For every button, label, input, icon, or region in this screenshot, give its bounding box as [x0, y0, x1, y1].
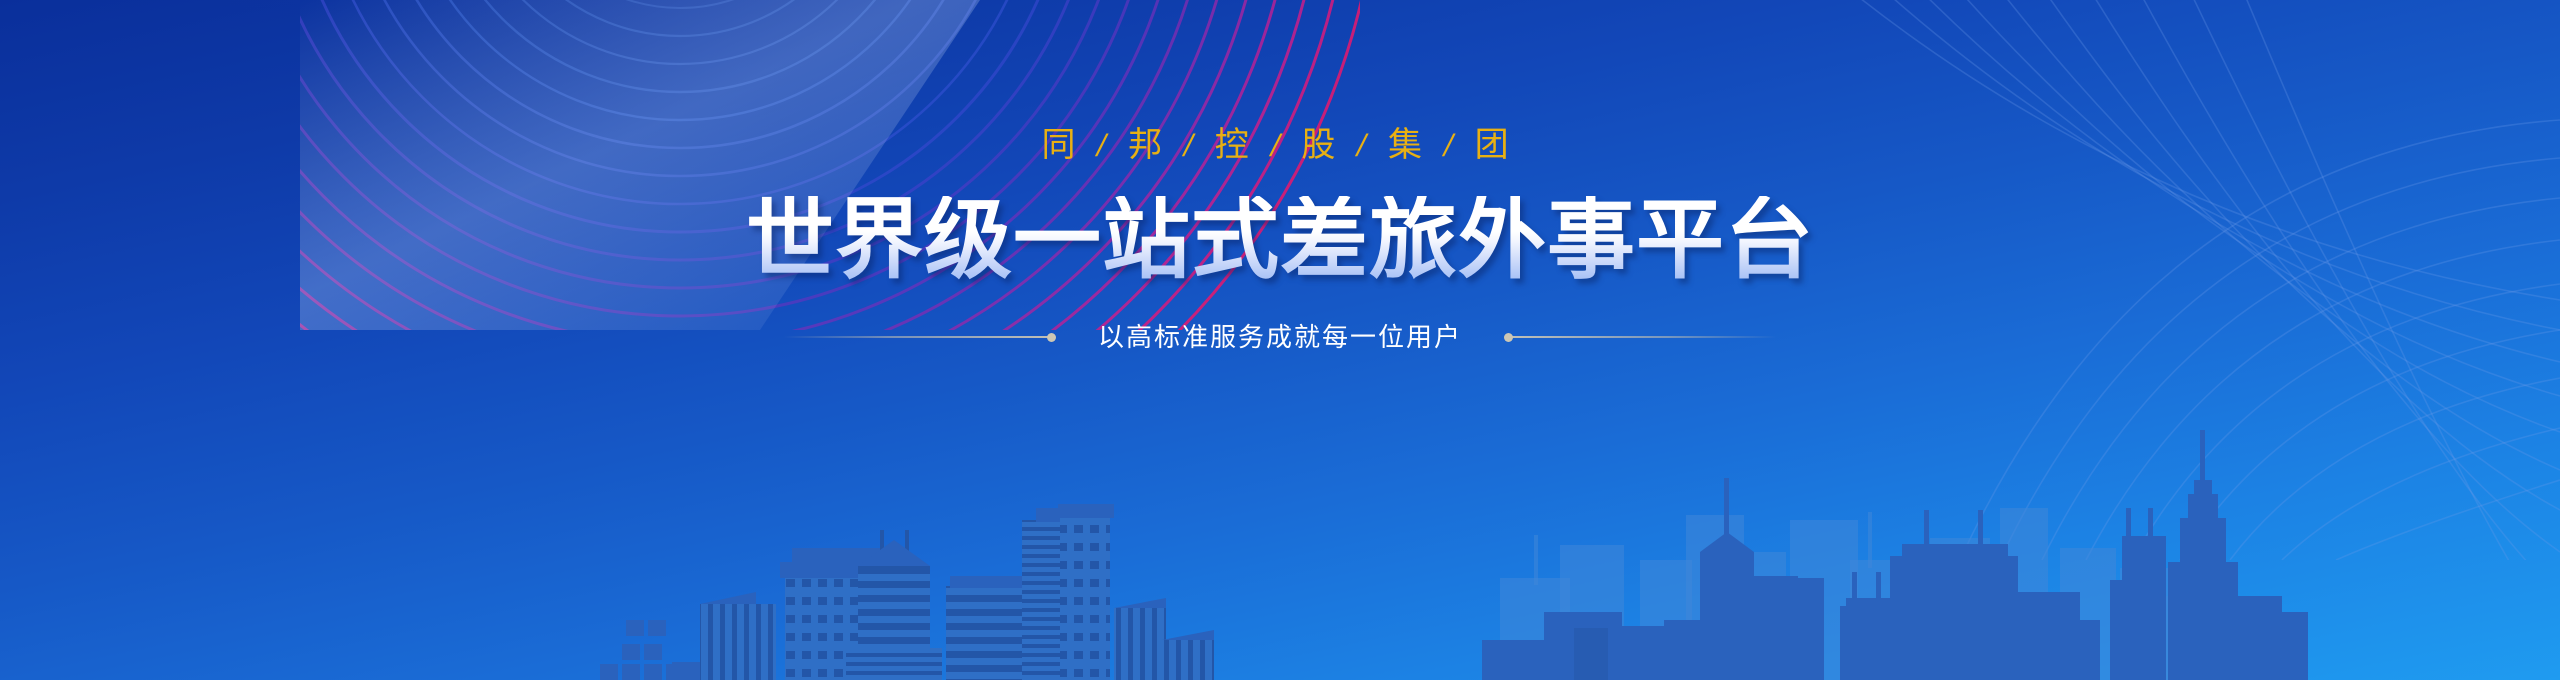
subtitle-rule-right	[1506, 332, 1776, 342]
subtitle-rule-left	[784, 332, 1054, 342]
skyline-near-right	[1482, 430, 2308, 680]
eyebrow-char-2: 邦	[1126, 128, 1174, 162]
eyebrow-separator-4: /	[1347, 130, 1387, 161]
banner-subtitle: 以高标准服务成就每一位用户	[1054, 324, 1506, 350]
eyebrow-char-1: 同	[1039, 128, 1087, 162]
company-eyebrow: 同 / 邦 / 控 / 股 / 集 / 团	[1039, 128, 1520, 162]
eyebrow-char-4: 股	[1299, 128, 1347, 162]
banner-headline: 世界级一站式差旅外事平台	[746, 196, 1814, 284]
banner-content: 同 / 邦 / 控 / 股 / 集 / 团 世界级一站式差旅外事平台 以高标准服…	[0, 0, 2560, 420]
skyline-left	[600, 504, 1214, 680]
skyline-far-right	[1500, 508, 2210, 680]
subtitle-dot-left	[1047, 333, 1056, 342]
eyebrow-separator-2: /	[1174, 130, 1214, 161]
subtitle-dot-right	[1504, 333, 1513, 342]
banner-subtitle-row: 以高标准服务成就每一位用户	[784, 324, 1776, 350]
eyebrow-char-3: 控	[1213, 128, 1261, 162]
eyebrow-separator-1: /	[1087, 130, 1127, 161]
hero-banner: 同 / 邦 / 控 / 股 / 集 / 团 世界级一站式差旅外事平台 以高标准服…	[0, 0, 2560, 680]
eyebrow-char-6: 团	[1473, 128, 1521, 162]
eyebrow-char-5: 集	[1386, 128, 1434, 162]
eyebrow-separator-3: /	[1260, 130, 1300, 161]
eyebrow-separator-5: /	[1433, 130, 1473, 161]
